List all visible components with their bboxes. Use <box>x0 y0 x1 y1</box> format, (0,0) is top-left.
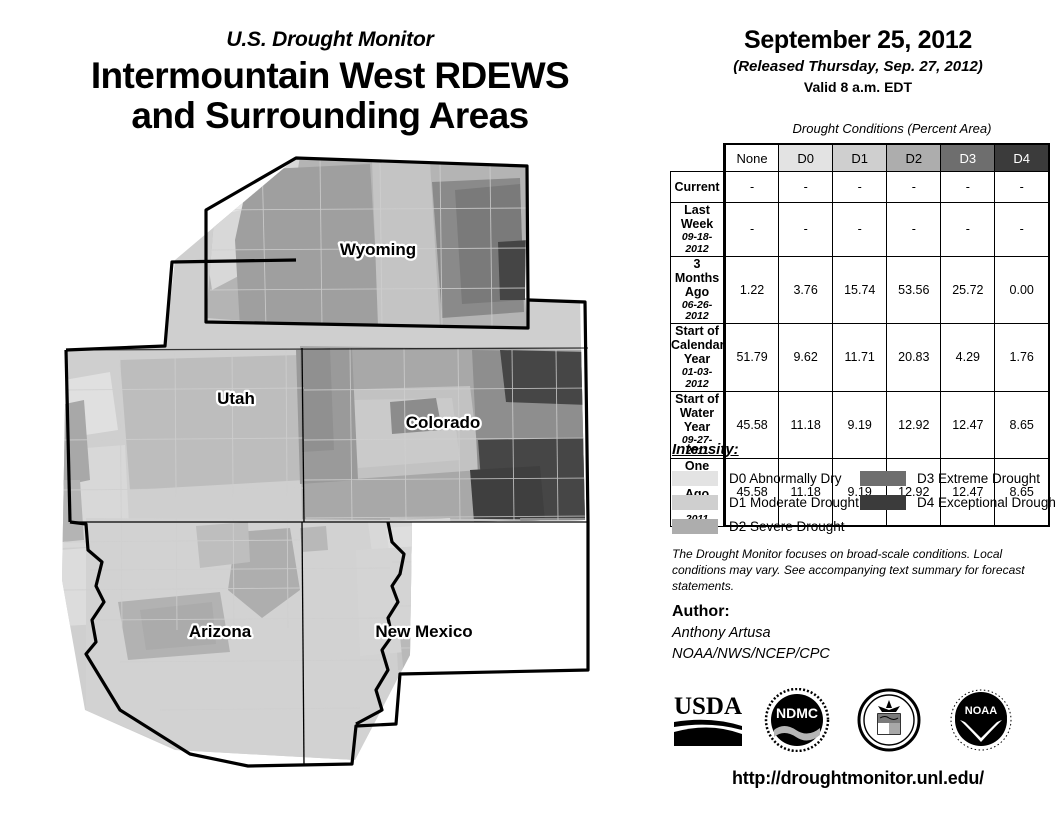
author-name: Anthony Artusa <box>672 623 830 644</box>
row-label-date: 01-03-2012 <box>671 367 723 391</box>
row-label-cell: Last Week09-18-2012 <box>671 203 725 257</box>
state-label-colorado: Colorado <box>406 413 481 432</box>
table-cell: - <box>995 203 1049 257</box>
table-cell: - <box>887 203 941 257</box>
table-cell: 8.65 <box>995 391 1049 459</box>
column-header-none: None <box>725 144 779 172</box>
table-cell: 20.83 <box>887 324 941 392</box>
legend-item-d2: D2 Severe Drought <box>672 514 859 538</box>
noaa-logo: NOAA <box>948 688 1014 752</box>
map-panel: U.S. Drought Monitor Intermountain West … <box>0 0 660 816</box>
map-svg: Wyoming Utah Colorado Arizona New Mexico <box>0 150 660 790</box>
product-name: U.S. Drought Monitor <box>0 28 660 52</box>
ndmc-logo: NDMC <box>764 688 830 752</box>
table-cell: - <box>941 203 995 257</box>
legend-label-d1: D1 Moderate Drought <box>729 495 859 510</box>
table-row: Start ofCalendar Year01-03-201251.799.62… <box>671 324 1050 392</box>
website-url[interactable]: http://droughtmonitor.unl.edu/ <box>660 768 1056 789</box>
author-affiliation: NOAA/NWS/NCEP/CPC <box>672 644 830 665</box>
issue-date: September 25, 2012 <box>660 26 1056 55</box>
table-cell: 25.72 <box>941 256 995 324</box>
table-cell: - <box>833 203 887 257</box>
page-title-line2: and Surrounding Areas <box>0 96 660 136</box>
table-header-row: None D0 D1 D2 D3 D4 <box>671 144 1050 172</box>
column-header-d4: D4 <box>995 144 1049 172</box>
author-heading: Author: <box>672 603 730 621</box>
table-cell: 3.76 <box>779 256 833 324</box>
row-label-text: Last Week <box>671 203 723 231</box>
table-cell: 12.92 <box>887 391 941 459</box>
state-label-newmexico: New Mexico <box>375 622 472 641</box>
disclaimer-text: The Drought Monitor focuses on broad-sca… <box>672 546 1032 594</box>
table-cell: - <box>833 172 887 203</box>
table-row: Current------ <box>671 172 1050 203</box>
row-label-date: 09-18-2012 <box>671 232 723 256</box>
column-header-d3: D3 <box>941 144 995 172</box>
table-cell: - <box>995 172 1049 203</box>
row-label-text: Start ofCalendar Year <box>671 324 723 366</box>
table-cell: 0.00 <box>995 256 1049 324</box>
state-label-arizona: Arizona <box>189 622 252 641</box>
table-cell: 9.62 <box>779 324 833 392</box>
table-cell: 11.71 <box>833 324 887 392</box>
legend-swatch-d3 <box>860 471 906 486</box>
table-cell: 15.74 <box>833 256 887 324</box>
table-corner-cell <box>671 144 725 172</box>
table-cell: 11.18 <box>779 391 833 459</box>
table-cell: - <box>779 203 833 257</box>
row-label-cell: Start ofCalendar Year01-03-2012 <box>671 324 725 392</box>
row-label-cell: 3 Months Ago06-26-2012 <box>671 256 725 324</box>
legend-item-d4: D4 Exceptional Drought <box>860 490 1056 514</box>
state-label-utah: Utah <box>217 389 255 408</box>
state-label-wyoming: Wyoming <box>340 240 416 259</box>
legend-label-d2: D2 Severe Drought <box>729 519 845 534</box>
column-header-d2: D2 <box>887 144 941 172</box>
legend-label-d3: D3 Extreme Drought <box>917 471 1040 486</box>
page-title-line1: Intermountain West RDEWS <box>0 56 660 96</box>
table-cell: 9.19 <box>833 391 887 459</box>
row-label-date: 06-26-2012 <box>671 300 723 324</box>
table-cell: 4.29 <box>941 324 995 392</box>
intensity-heading: Intensity: <box>672 441 739 458</box>
column-header-d0: D0 <box>779 144 833 172</box>
row-label-text: Start ofWater Year <box>671 392 723 434</box>
table-row: 3 Months Ago06-26-20121.223.7615.7453.56… <box>671 256 1050 324</box>
legend-column-right: D3 Extreme Drought D4 Exceptional Drough… <box>860 466 1056 514</box>
table-cell: - <box>725 172 779 203</box>
row-label-text: 3 Months Ago <box>671 257 723 299</box>
row-label-text: Current <box>671 180 723 194</box>
legend-swatch-d4 <box>860 495 906 510</box>
release-date: (Released Thursday, Sep. 27, 2012) <box>660 58 1056 75</box>
svg-text:USDA: USDA <box>674 693 742 720</box>
usda-logo: USDA <box>668 688 748 750</box>
svg-text:NOAA: NOAA <box>965 705 997 717</box>
table-cell: 1.22 <box>725 256 779 324</box>
page-title: Intermountain West RDEWS and Surrounding… <box>0 56 660 136</box>
date-block: September 25, 2012 (Released Thursday, S… <box>660 26 1056 95</box>
table-cell: 12.47 <box>941 391 995 459</box>
legend-column-left: D0 Abnormally Dry D1 Moderate Drought D2… <box>672 466 859 538</box>
legend-swatch-d0 <box>672 471 718 486</box>
legend-label-d4: D4 Exceptional Drought <box>917 495 1056 510</box>
map-drought-layer <box>0 150 660 790</box>
table-cell: 51.79 <box>725 324 779 392</box>
svg-text:NDMC: NDMC <box>776 705 818 721</box>
legend-swatch-d1 <box>672 495 718 510</box>
table-cell: 1.76 <box>995 324 1049 392</box>
table-cell: - <box>725 203 779 257</box>
logo-row: USDA NDMC NOAA <box>660 688 1056 756</box>
legend-item-d0: D0 Abnormally Dry <box>672 466 859 490</box>
valid-time: Valid 8 a.m. EDT <box>660 79 1056 95</box>
title-block: U.S. Drought Monitor Intermountain West … <box>0 28 660 136</box>
table-cell: 53.56 <box>887 256 941 324</box>
info-panel: September 25, 2012 (Released Thursday, S… <box>660 0 1056 816</box>
table-cell: - <box>779 172 833 203</box>
table-row: Last Week09-18-2012------ <box>671 203 1050 257</box>
legend-item-d1: D1 Moderate Drought <box>672 490 859 514</box>
table-cell: - <box>887 172 941 203</box>
drought-map[interactable]: Wyoming Utah Colorado Arizona New Mexico <box>0 150 660 790</box>
legend-item-d3: D3 Extreme Drought <box>860 466 1056 490</box>
usda-seal-logo <box>856 688 922 752</box>
legend-label-d0: D0 Abnormally Dry <box>729 471 842 486</box>
row-label-cell: Current <box>671 172 725 203</box>
author-block: Anthony Artusa NOAA/NWS/NCEP/CPC <box>672 623 830 664</box>
table-caption: Drought Conditions (Percent Area) <box>756 121 1028 136</box>
table-cell: - <box>941 172 995 203</box>
column-header-d1: D1 <box>833 144 887 172</box>
legend-swatch-d2 <box>672 519 718 534</box>
